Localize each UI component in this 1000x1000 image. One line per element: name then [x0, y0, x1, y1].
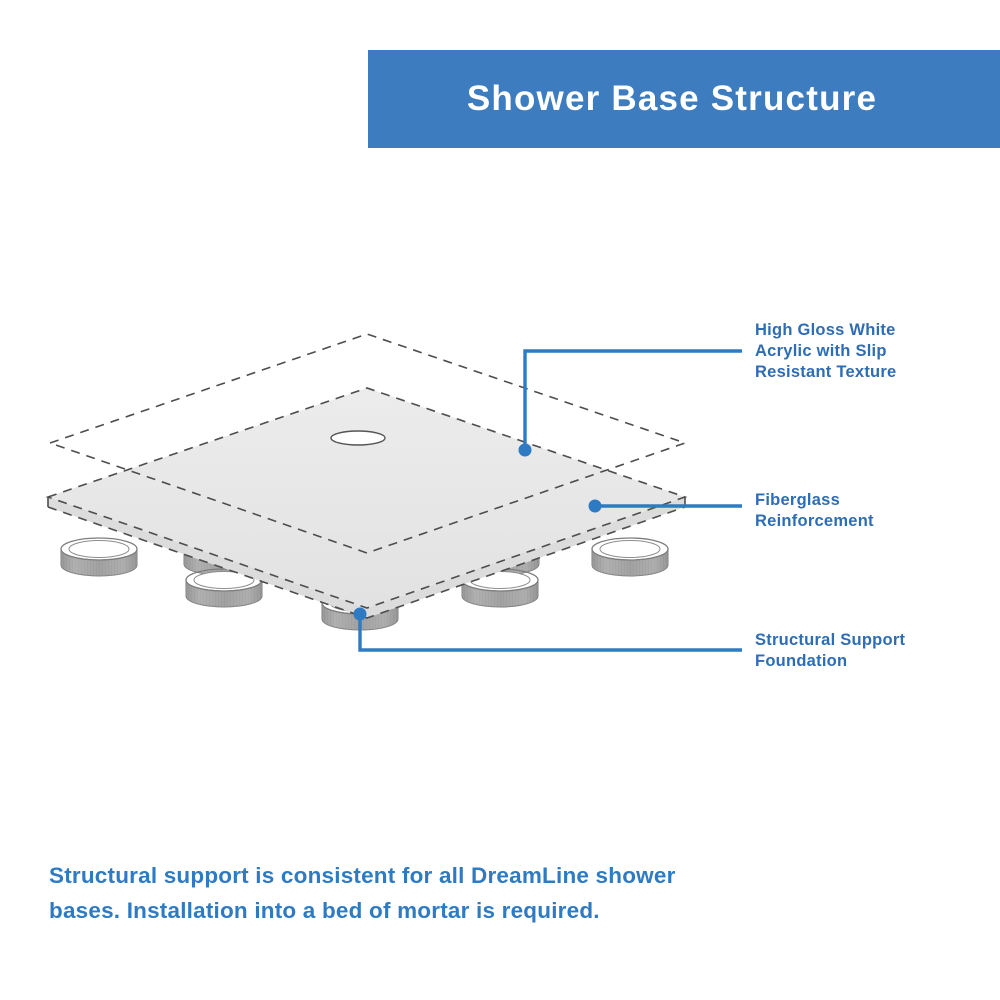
support-ring: [186, 569, 262, 607]
leader-dot-acrylic: [519, 444, 532, 457]
fiberglass-slab-outline: [48, 388, 685, 608]
acrylic-top-plate-outline: [50, 334, 685, 553]
fiberglass-slab-side-edges: [48, 497, 685, 507]
leader-dot-fiberglass: [589, 500, 602, 513]
support-ring: [592, 538, 668, 576]
callout-label-fiberglass: Fiberglass Reinforcement: [755, 490, 995, 532]
fiberglass-slab-layer: [48, 388, 685, 618]
header-banner: Shower Base Structure: [368, 50, 1000, 148]
leader-line-support: [354, 608, 743, 651]
support-ring-group: [61, 537, 668, 630]
leader-dot-support: [354, 608, 367, 621]
leader-line-fiberglass: [589, 500, 743, 513]
drain-opening-icon: [331, 431, 385, 445]
acrylic-top-plate-layer: [50, 334, 685, 553]
support-ring: [322, 556, 398, 594]
page-title: Shower Base Structure: [467, 79, 877, 119]
support-ring: [463, 537, 539, 575]
support-ring: [61, 538, 137, 576]
support-ring: [184, 537, 260, 575]
fiberglass-slab-face: [48, 388, 685, 608]
callout-label-acrylic: High Gloss White Acrylic with Slip Resis…: [755, 320, 995, 383]
callout-label-support: Structural Support Foundation: [755, 630, 995, 672]
leader-line-acrylic: [519, 351, 743, 457]
footer-note: Structural support is consistent for all…: [49, 858, 689, 928]
support-ring: [322, 592, 398, 630]
support-ring: [462, 569, 538, 607]
leader-lines: [354, 351, 743, 650]
diagram-canvas: Shower Base Structure: [0, 0, 1000, 1000]
fiberglass-slab-thickness: [48, 507, 685, 618]
